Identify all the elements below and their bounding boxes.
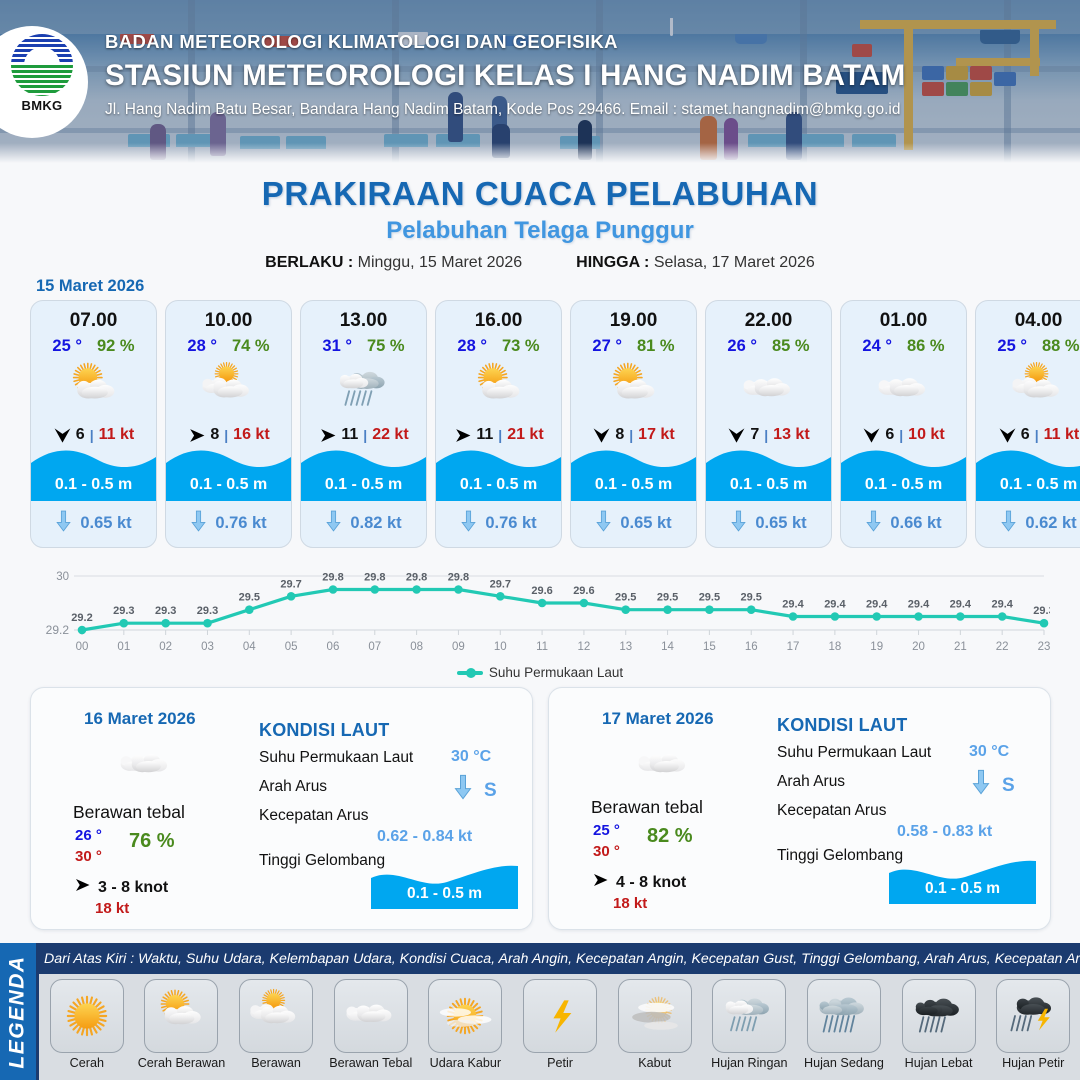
svg-text:29.8: 29.8 [364,572,385,584]
svg-text:18: 18 [828,641,841,653]
hourly-forecast-cards: 07.00 25 ° 92 % 6 | 11 kt [30,300,1080,548]
card-current-row: 0.76 kt [436,510,561,537]
svg-text:29.5: 29.5 [740,592,761,604]
legend-icon-berawan [239,979,313,1053]
legend-item: Hujan Sedang [797,974,891,1071]
station-address: Jl. Hang Nadim Batu Besar, Bandara Hang … [105,101,905,119]
card-wind-row: 11 | 21 kt [436,426,561,444]
svg-text:00: 00 [76,641,89,653]
legend-item-label: Berawan [251,1057,301,1071]
wind-direction-chevron-down-icon [53,426,71,444]
card-separator: | [1035,427,1039,443]
card-current-speed: 0.62 kt [1025,514,1076,533]
card-time: 22.00 [706,310,831,332]
card-wave-height: 0.1 - 0.5 m [166,476,291,494]
page-subtitle: Pelabuhan Telaga Punggur [0,217,1080,245]
card-temperature: 26 ° [727,337,757,356]
daily-gust: 18 kt [613,895,647,912]
current-speed-label: Kecepatan Arus [259,807,368,825]
card-current-row: 0.66 kt [841,510,966,537]
card-current-speed: 0.82 kt [350,514,401,533]
svg-text:29.4: 29.4 [782,599,804,611]
legend-item-label: Petir [547,1057,573,1071]
station-name: STASIUN METEOROLOGI KELAS I HANG NADIM B… [105,59,905,93]
card-separator: | [764,427,768,443]
card-time: 10.00 [166,310,291,332]
wind-direction-arrow-left-icon [591,871,609,894]
card-temp-hum-row: 31 ° 75 % [301,337,426,356]
svg-text:03: 03 [201,641,214,653]
logo-label: BMKG [22,98,63,113]
wind-direction-chevron-down-icon [727,426,745,444]
svg-text:16: 16 [745,641,758,653]
daily-wave-graphic: 0.1 - 0.5 m [371,864,518,909]
bmkg-logo: BMKG [6,34,78,130]
current-direction-arrow-icon [325,510,342,537]
daily-temp-max: 30 ° [75,848,102,865]
daily-wave-value: 0.1 - 0.5 m [371,885,518,903]
title-block: PRAKIRAAN CUACA PELABUHAN Pelabuhan Tela… [0,175,1080,272]
card-wind-speed: 11 [341,426,358,444]
svg-text:17: 17 [787,641,800,653]
daily-condition: Berawan tebal [591,797,703,818]
legend-note: Dari Atas Kiri : Waktu, Suhu Udara, Kele… [44,951,1080,967]
legend-section: LEGENDA Dari Atas Kiri : Waktu, Suhu Uda… [0,943,1080,1080]
card-separator: | [90,427,94,443]
svg-text:29.2: 29.2 [71,612,92,624]
card-wave-zone: 0.1 - 0.5 m [436,445,561,501]
header-text-block: BADAN METEOROLOGI KLIMATOLOGI DAN GEOFIS… [105,31,905,119]
card-wind-row: 7 | 13 kt [706,426,831,444]
card-wave-height: 0.1 - 0.5 m [706,476,831,494]
card-wave-height: 0.1 - 0.5 m [571,476,696,494]
logo-green-stripes [11,65,73,96]
wind-direction-arrow-left-icon [453,426,471,444]
svg-text:29.5: 29.5 [657,592,678,604]
current-direction-arrow-icon [865,510,882,537]
svg-text:29.5: 29.5 [239,592,260,604]
daily-wind-row: 4 - 8 knot [591,871,686,894]
svg-text:21: 21 [954,641,967,653]
page-header: BMKG BADAN METEOROLOGI KLIMATOLOGI DAN G… [0,0,1080,163]
svg-text:29.6: 29.6 [573,585,594,597]
card-gust: 22 kt [372,426,408,444]
current-direction-arrow-icon [730,510,747,537]
card-wave-zone: 0.1 - 0.5 m [706,445,831,501]
legend-icon-hujan-sedang [807,979,881,1053]
svg-text:29.3: 29.3 [1033,605,1050,617]
svg-text:11: 11 [536,641,548,653]
card-gust: 16 kt [233,426,269,444]
svg-text:07: 07 [368,641,381,653]
svg-text:29.3: 29.3 [197,605,218,617]
hourly-card: 22.00 26 ° 85 % 7 [705,300,832,548]
weather-icon-cerah-berawan [436,359,561,421]
valid-until: HINGGA : Selasa, 17 Maret 2026 [576,254,815,272]
card-gust: 21 kt [507,426,543,444]
svg-text:08: 08 [410,641,423,653]
card-wind-speed: 6 [885,426,894,444]
svg-text:29.3: 29.3 [113,605,134,617]
agency-name: BADAN METEOROLOGI KLIMATOLOGI DAN GEOFIS… [105,31,905,53]
daily-temp-min: 26 ° [75,827,102,844]
card-humidity: 86 % [907,337,945,356]
card-wind-speed: 8 [615,426,624,444]
card-temp-hum-row: 24 ° 86 % [841,337,966,356]
wind-direction-chevron-down-icon [862,426,880,444]
legend-icon-cerah [50,979,124,1053]
card-wave-zone: 0.1 - 0.5 m [976,445,1080,501]
card-gust: 10 kt [908,426,944,444]
legend-items: Cerah Cerah Berawan [39,974,1080,1080]
card-current-row: 0.65 kt [31,510,156,537]
bmkg-logo-mark [11,34,73,96]
valid-from: BERLAKU : Minggu, 15 Maret 2026 [265,254,522,272]
card-time: 04.00 [976,310,1080,332]
svg-text:29.4: 29.4 [950,599,972,611]
card-gust: 11 kt [1044,426,1080,444]
legend-icon-cerah-berawan [144,979,218,1053]
card-time: 07.00 [31,310,156,332]
validity-row: BERLAKU : Minggu, 15 Maret 2026 HINGGA :… [0,254,1080,272]
daily-humidity: 76 % [129,830,175,853]
legend-item: Udara Kabur [419,974,513,1071]
card-temperature: 31 ° [322,337,352,356]
legend-item: Berawan Tebal [324,974,418,1071]
card-humidity: 75 % [367,337,405,356]
card-temperature: 28 ° [187,337,217,356]
card-wind-row: 6 | 11 kt [976,426,1080,444]
hourly-card: 04.00 25 ° 88 % 6 [975,300,1080,548]
svg-text:29.5: 29.5 [615,592,636,604]
card-temp-hum-row: 28 ° 73 % [436,337,561,356]
current-direction-value: S [484,780,497,802]
svg-text:29.8: 29.8 [322,572,343,584]
legend-item: Hujan Ringan [702,974,796,1071]
card-current-speed: 0.65 kt [620,514,671,533]
card-wave-zone: 0.1 - 0.5 m [301,445,426,501]
card-wave-height: 0.1 - 0.5 m [31,476,156,494]
svg-text:29.7: 29.7 [280,578,301,590]
card-wind-row: 11 | 22 kt [301,426,426,444]
current-direction-label: Arah Arus [259,778,327,796]
svg-text:14: 14 [661,641,674,653]
wind-direction-chevron-down-icon [998,426,1016,444]
daily-date: 16 Maret 2026 [84,709,196,729]
card-temperature: 25 ° [997,337,1027,356]
current-speed-value: 0.62 - 0.84 kt [377,828,472,846]
current-direction-arrow-icon [595,510,612,537]
legend-item-label: Hujan Ringan [711,1057,787,1071]
daily-gust: 18 kt [95,900,129,917]
card-current-speed: 0.66 kt [890,514,941,533]
card-current-speed: 0.76 kt [485,514,536,533]
current-direction-arrow-icon [1000,510,1017,537]
daily-wave-value: 0.1 - 0.5 m [889,880,1036,898]
svg-text:15: 15 [703,641,716,653]
current-direction-arrow-icon [453,774,473,805]
daily-wind-range: 3 - 8 knot [98,879,168,897]
card-current-row: 0.62 kt [976,510,1080,537]
card-time: 16.00 [436,310,561,332]
legend-item: Petir [513,974,607,1071]
sst-value: 30 °C [969,743,1009,761]
daily-temp-max: 30 ° [593,843,620,860]
daily-date: 17 Maret 2026 [602,709,714,729]
hourly-date-label: 15 Maret 2026 [36,277,144,296]
hourly-card: 16.00 28 ° 73 % 11 | 21 kt [435,300,562,548]
svg-text:29.4: 29.4 [908,599,930,611]
card-wind-speed: 11 [476,426,493,444]
card-temperature: 24 ° [862,337,892,356]
card-wind-speed: 7 [750,426,759,444]
sst-label: Suhu Permukaan Laut [777,744,931,762]
legend-icon-hujan-ringan [712,979,786,1053]
card-current-row: 0.65 kt [571,510,696,537]
sst-value: 30 °C [451,748,491,766]
svg-text:29.4: 29.4 [991,599,1013,611]
card-wave-zone: 0.1 - 0.5 m [166,445,291,501]
page-title: PRAKIRAAN CUACA PELABUHAN [0,175,1080,213]
card-humidity: 88 % [1042,337,1080,356]
header-bottom-fade [0,143,1080,163]
current-direction-arrow-icon [190,510,207,537]
hourly-card: 13.00 31 ° 75 % 11 [300,300,427,548]
current-direction-arrow-icon [971,769,991,800]
legend-item-label: Hujan Sedang [804,1057,884,1071]
weather-icon-berawan-tebal [706,359,831,421]
card-temp-hum-row: 27 ° 81 % [571,337,696,356]
card-wind-row: 6 | 10 kt [841,426,966,444]
card-wave-zone: 0.1 - 0.5 m [571,445,696,501]
svg-text:04: 04 [243,641,256,653]
weather-icon-cerah-berawan [31,359,156,421]
card-temp-hum-row: 25 ° 88 % [976,337,1080,356]
sea-conditions-title: KONDISI LAUT [777,715,907,736]
hourly-card: 01.00 24 ° 86 % 6 [840,300,967,548]
card-wave-zone: 0.1 - 0.5 m [841,445,966,501]
card-current-speed: 0.76 kt [215,514,266,533]
card-time: 01.00 [841,310,966,332]
card-temp-hum-row: 26 ° 85 % [706,337,831,356]
wave-height-label: Tinggi Gelombang [259,852,385,870]
daily-condition: Berawan tebal [73,802,185,823]
daily-humidity: 82 % [647,825,693,848]
card-wind-speed: 6 [1021,426,1030,444]
card-separator: | [498,427,502,443]
weather-icon-hujan-ringan [301,359,426,421]
wind-direction-chevron-down-icon [592,426,610,444]
chart-legend-marker [457,671,483,675]
card-temp-hum-row: 28 ° 74 % [166,337,291,356]
card-temperature: 25 ° [52,337,82,356]
daily-weather-icon-berawan-tebal [609,738,719,794]
card-wind-speed: 6 [76,426,85,444]
hourly-card: 07.00 25 ° 92 % 6 | 11 kt [30,300,157,548]
svg-text:19: 19 [870,641,883,653]
card-wind-row: 6 | 11 kt [31,426,156,444]
svg-text:29.8: 29.8 [406,572,427,584]
card-separator: | [363,427,367,443]
legend-item: Hujan Petir [986,974,1080,1071]
card-temperature: 27 ° [592,337,622,356]
chart-legend: Suhu Permukaan Laut [30,665,1050,680]
legend-icon-berawan-tebal [334,979,408,1053]
hourly-card: 10.00 28 ° 74 % 8 [165,300,292,548]
svg-text:10: 10 [494,641,507,653]
legend-item-label: Berawan Tebal [329,1057,412,1071]
svg-text:29.5: 29.5 [699,592,720,604]
svg-text:29.8: 29.8 [448,572,469,584]
card-time: 19.00 [571,310,696,332]
card-wind-row: 8 | 16 kt [166,426,291,444]
daily-forecast-panels: 16 Maret 2026 Berawan tebal 26 ° 30 ° 76… [30,687,1051,930]
card-humidity: 85 % [772,337,810,356]
daily-temp-min: 25 ° [593,822,620,839]
svg-text:09: 09 [452,641,465,653]
daily-forecast-panel: 17 Maret 2026 Berawan tebal 25 ° 30 ° 82… [548,687,1051,930]
card-wind-speed: 8 [210,426,219,444]
legend-icon-udara-kabur [428,979,502,1053]
current-direction-value: S [1002,775,1015,797]
weather-icon-berawan [976,359,1080,421]
wind-direction-arrow-left-icon [187,426,205,444]
weather-icon-cerah-berawan [571,359,696,421]
legend-item: Berawan [229,974,323,1071]
legend-icon-kabut [618,979,692,1053]
wind-direction-arrow-left-icon [318,426,336,444]
card-temp-hum-row: 25 ° 92 % [31,337,156,356]
card-separator: | [224,427,228,443]
card-humidity: 74 % [232,337,270,356]
svg-text:29.4: 29.4 [824,599,846,611]
svg-text:13: 13 [619,641,632,653]
sst-chart-svg: 3029.20001020304050607080910111213141516… [30,562,1050,662]
legend-item: Cerah Berawan [135,974,229,1071]
card-separator: | [899,427,903,443]
svg-text:23: 23 [1038,641,1050,653]
sst-label: Suhu Permukaan Laut [259,749,413,767]
svg-text:30: 30 [56,571,69,583]
svg-text:02: 02 [159,641,172,653]
daily-wind-range: 4 - 8 knot [616,874,686,892]
current-speed-label: Kecepatan Arus [777,802,886,820]
svg-text:06: 06 [327,641,340,653]
card-current-row: 0.76 kt [166,510,291,537]
legend-item: Kabut [608,974,702,1071]
svg-text:20: 20 [912,641,925,653]
sea-conditions-title: KONDISI LAUT [259,720,389,741]
card-gust: 13 kt [773,426,809,444]
card-wave-height: 0.1 - 0.5 m [841,476,966,494]
wave-height-label: Tinggi Gelombang [777,847,903,865]
card-wave-height: 0.1 - 0.5 m [976,476,1080,494]
card-gust: 17 kt [638,426,674,444]
current-speed-value: 0.58 - 0.83 kt [897,823,992,841]
daily-wave-graphic: 0.1 - 0.5 m [889,859,1036,904]
svg-text:22: 22 [996,641,1009,653]
card-separator: | [629,427,633,443]
svg-text:05: 05 [285,641,298,653]
wind-direction-arrow-left-icon [73,876,91,899]
valid-from-value: Minggu, 15 Maret 2026 [358,254,523,271]
card-humidity: 73 % [502,337,540,356]
current-direction-label: Arah Arus [777,773,845,791]
sst-chart: 3029.20001020304050607080910111213141516… [30,562,1050,682]
svg-text:29.6: 29.6 [531,585,552,597]
daily-forecast-panel: 16 Maret 2026 Berawan tebal 26 ° 30 ° 76… [30,687,533,930]
card-temperature: 28 ° [457,337,487,356]
svg-text:29.3: 29.3 [155,605,176,617]
legend-item: Cerah [40,974,134,1071]
daily-weather-icon-berawan-tebal [91,738,201,794]
card-wave-height: 0.1 - 0.5 m [301,476,426,494]
card-gust: 11 kt [99,426,135,444]
card-time: 13.00 [301,310,426,332]
card-wave-zone: 0.1 - 0.5 m [31,445,156,501]
card-humidity: 92 % [97,337,135,356]
current-direction-arrow-icon [460,510,477,537]
card-wave-height: 0.1 - 0.5 m [436,476,561,494]
svg-text:29.4: 29.4 [866,599,888,611]
valid-until-label: HINGGA : [576,254,649,271]
chart-legend-label: Suhu Permukaan Laut [489,665,623,680]
legend-item-label: Hujan Lebat [905,1057,973,1071]
current-direction-arrow-icon [55,510,72,537]
svg-text:29.2: 29.2 [46,623,70,637]
legend-icon-hujan-petir [996,979,1070,1053]
legend-tab-label: LEGENDA [6,955,30,1068]
svg-text:01: 01 [117,641,130,653]
hourly-card: 19.00 27 ° 81 % 8 | 17 kt [570,300,697,548]
valid-until-value: Selasa, 17 Maret 2026 [654,254,815,271]
legend-item-label: Hujan Petir [1002,1057,1064,1071]
weather-icon-berawan-tebal [841,359,966,421]
legend-item-label: Cerah Berawan [138,1057,226,1071]
legend-item-label: Udara Kabur [430,1057,501,1071]
svg-text:29.7: 29.7 [490,578,511,590]
card-current-speed: 0.65 kt [80,514,131,533]
card-wind-row: 8 | 17 kt [571,426,696,444]
legend-item: Hujan Lebat [892,974,986,1071]
card-current-row: 0.65 kt [706,510,831,537]
card-current-row: 0.82 kt [301,510,426,537]
daily-wind-row: 3 - 8 knot [73,876,168,899]
legend-item-label: Cerah [70,1057,104,1071]
legend-icon-hujan-lebat [902,979,976,1053]
legend-icon-petir [523,979,597,1053]
svg-text:12: 12 [578,641,591,653]
valid-from-label: BERLAKU : [265,254,353,271]
weather-icon-berawan [166,359,291,421]
legend-item-label: Kabut [638,1057,671,1071]
card-humidity: 81 % [637,337,675,356]
legend-tab: LEGENDA [0,943,36,1080]
card-current-speed: 0.65 kt [755,514,806,533]
